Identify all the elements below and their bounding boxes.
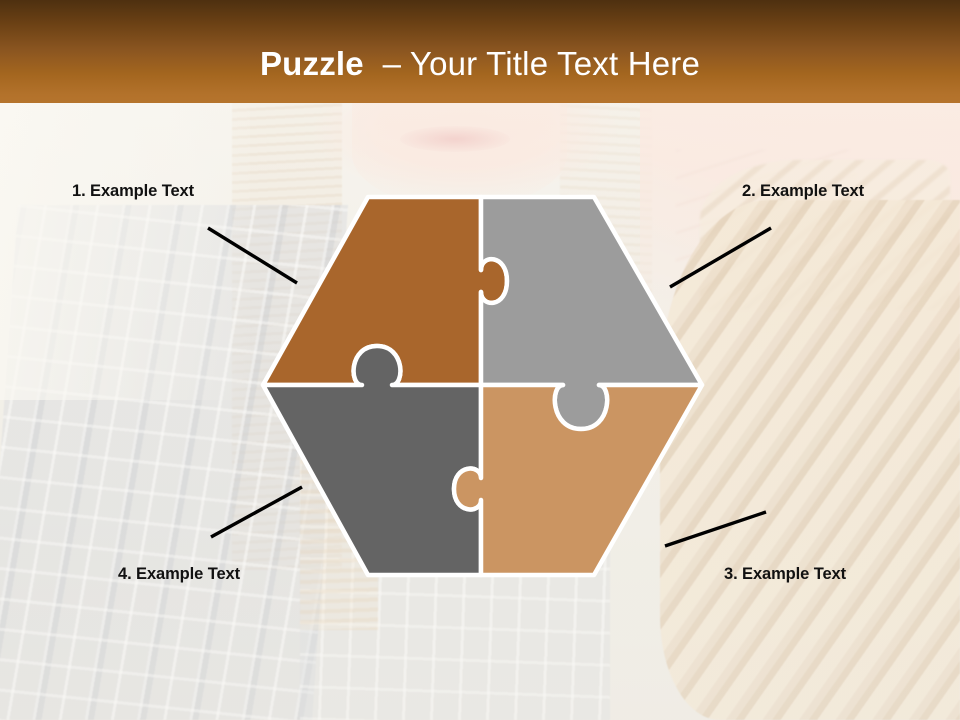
puzzle-diagram [255,186,710,586]
callout-label-3: 3. Example Text [724,565,846,584]
callout-label-2: 2. Example Text [742,182,864,201]
slide-canvas: Puzzle – Your Title Text Here 1. Example… [0,0,960,720]
callout-label-1: 1. Example Text [72,182,194,201]
callout-label-4: 4. Example Text [118,565,240,584]
